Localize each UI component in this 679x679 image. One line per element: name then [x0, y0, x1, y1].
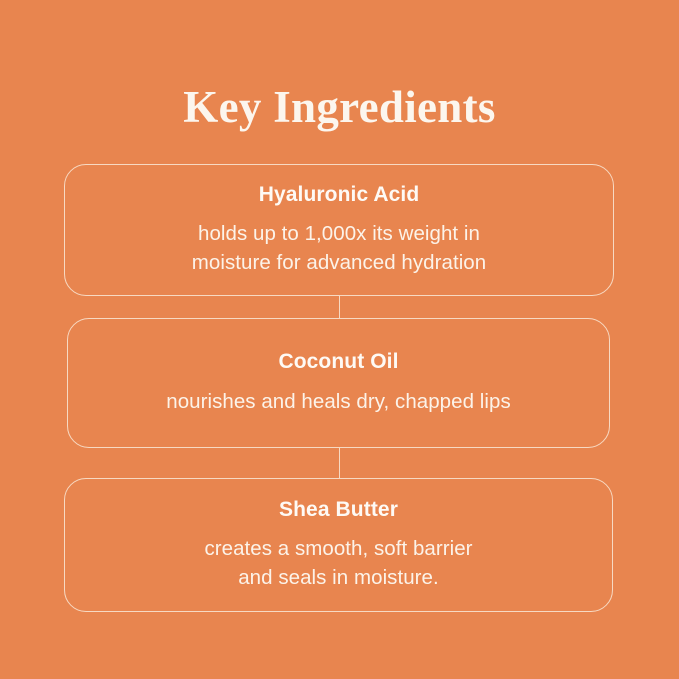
ingredient-name: Coconut Oil	[278, 350, 398, 373]
ingredient-card-shea-butter: Shea Butter creates a smooth, soft barri…	[64, 478, 613, 612]
ingredient-description: nourishes and heals dry, chapped lips	[166, 387, 511, 416]
page-title: Key Ingredients	[0, 85, 679, 130]
connector-line-1	[339, 295, 340, 319]
ingredient-card-hyaluronic-acid: Hyaluronic Acid holds up to 1,000x its w…	[64, 164, 614, 296]
ingredient-card-coconut-oil: Coconut Oil nourishes and heals dry, cha…	[67, 318, 610, 448]
ingredient-description: creates a smooth, soft barrier and seals…	[204, 534, 472, 592]
connector-line-2	[339, 447, 340, 479]
ingredient-name: Shea Butter	[279, 498, 398, 521]
ingredient-name: Hyaluronic Acid	[259, 183, 420, 206]
ingredient-card-stack: Hyaluronic Acid holds up to 1,000x its w…	[0, 164, 679, 614]
ingredient-description: holds up to 1,000x its weight in moistur…	[192, 219, 486, 277]
key-ingredients-poster: Key Ingredients Hyaluronic Acid holds up…	[0, 0, 679, 679]
